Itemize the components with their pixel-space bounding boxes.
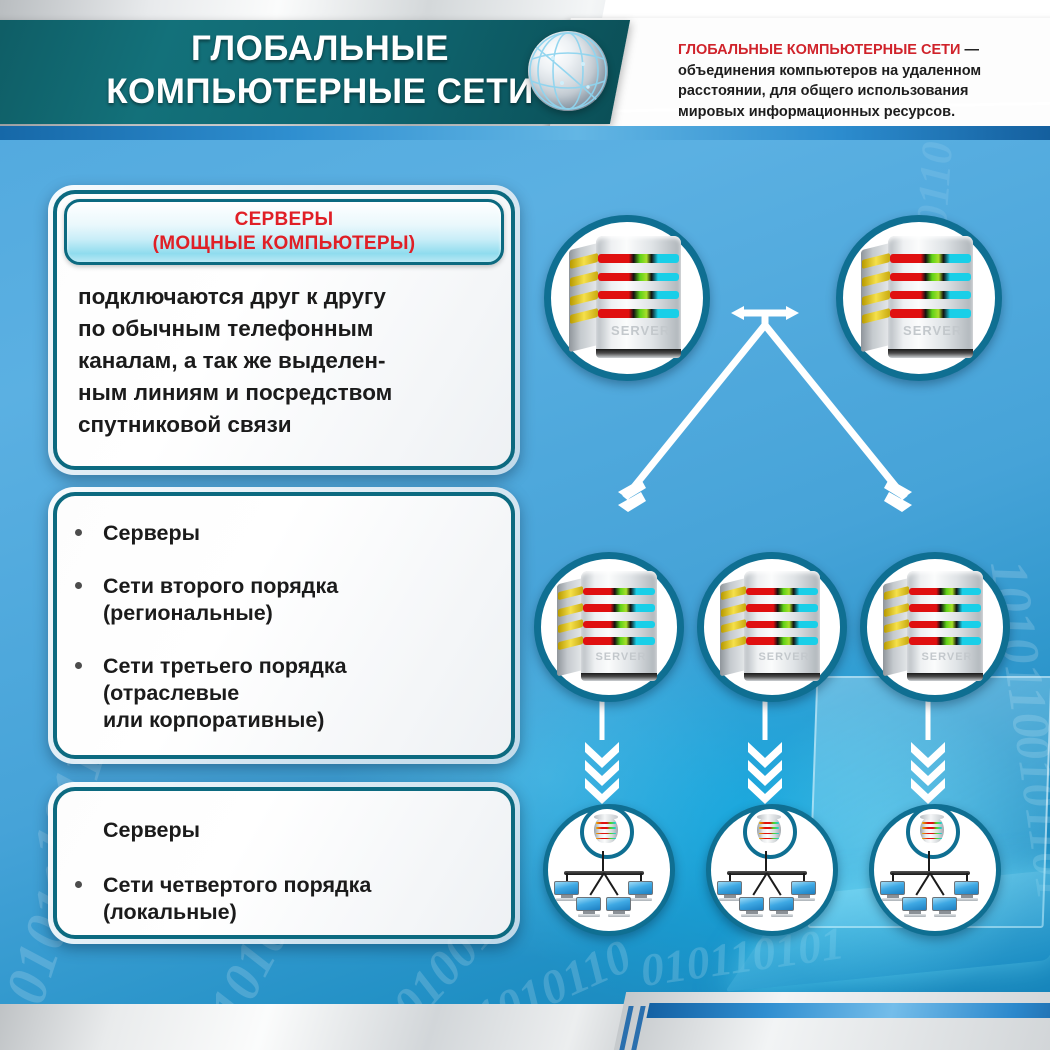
pc-screen — [739, 897, 764, 911]
server-label: SERVER — [591, 651, 651, 663]
bullet-icon — [75, 662, 82, 669]
pc-base — [556, 898, 578, 901]
lan-trunk-link — [602, 851, 604, 873]
pc-base — [904, 914, 926, 917]
server-drive-bay — [598, 291, 679, 300]
header-blue-bar — [0, 126, 1050, 140]
server-drive-bay — [598, 273, 679, 282]
bullet-icon — [75, 529, 82, 536]
server-icon: SERVER — [569, 236, 681, 358]
server-drive-bay — [909, 637, 981, 645]
panel-local-networks: Серверы Сети четвертого порядка (локальн… — [48, 782, 520, 944]
server-base — [888, 349, 973, 358]
pc-base — [719, 898, 741, 901]
server-drive-bay — [890, 291, 971, 300]
server-base — [907, 673, 983, 681]
bullet-icon — [75, 582, 82, 589]
lan-trunk-link — [928, 851, 930, 873]
list-item: Сети третьего порядка (отраслевые или ко… — [57, 653, 511, 734]
list-item-line: (локальные) — [103, 899, 511, 926]
hub-cyl-body — [594, 817, 618, 844]
footer-left-plate — [0, 1004, 675, 1050]
lan-node-tier3[interactable] — [706, 804, 838, 936]
pc-screen — [954, 881, 979, 895]
footer-blue-bar — [646, 1003, 1050, 1018]
server-node-tier2[interactable]: SERVER — [860, 552, 1010, 702]
panel-network-tiers-inner: Серверы Сети второго порядка (региональн… — [53, 492, 515, 759]
panel-servers-body-line: подключаются друг к другу — [78, 281, 500, 313]
server-drive-bay — [598, 254, 679, 263]
pc-screen — [554, 881, 579, 895]
lan-node-tier3[interactable] — [543, 804, 675, 936]
pc-base — [882, 898, 904, 901]
lan-drop-link — [603, 872, 619, 895]
pc-base — [630, 898, 652, 901]
lan-hub-server-icon — [906, 805, 960, 859]
list-item: Серверы — [57, 817, 511, 844]
client-pc — [932, 897, 957, 918]
pc-screen — [791, 881, 816, 895]
lan-drop-link — [766, 872, 782, 895]
pc-base — [956, 898, 978, 901]
lan-trunk-link — [765, 851, 767, 873]
server-drive-bay — [746, 588, 818, 596]
server-label: SERVER — [754, 651, 814, 663]
list-item: Сети четвертого порядка (локальные) — [57, 872, 511, 926]
server-drive-bay — [746, 604, 818, 612]
panel-servers-inner: СЕРВЕРЫ (МОЩНЫЕ КОМПЬЮТЕРЫ) подключаются… — [53, 190, 515, 470]
client-pc — [791, 881, 816, 902]
panel-servers-body-line: по обычным телефонным — [78, 313, 500, 345]
lan-node-tier3[interactable] — [869, 804, 1001, 936]
hub-cyl-bar — [759, 827, 779, 829]
panel-servers-title-line2: (МОЩНЫЕ КОМПЬЮТЕРЫ) — [153, 232, 416, 256]
server-node-tier2[interactable]: SERVER — [534, 552, 684, 702]
header-description-keyword: ГЛОБАЛЬНЫЕ КОМПЬЮТЕРНЫЕ СЕТИ — [678, 42, 960, 58]
pc-screen — [606, 897, 631, 911]
pc-base — [934, 914, 956, 917]
hub-cyl-top — [594, 814, 618, 820]
server-drive-bay — [909, 588, 981, 596]
client-pc — [954, 881, 979, 902]
lan-topology — [874, 809, 986, 921]
server-drive-bay — [890, 309, 971, 318]
lan-hub-server-icon — [743, 805, 797, 859]
hub-cyl-body — [757, 817, 781, 844]
hub-cyl-bar — [922, 827, 942, 829]
page-title-line1: ГЛОБАЛЬНЫЕ — [95, 27, 545, 70]
pc-base — [741, 914, 763, 917]
server-drive-bay — [598, 309, 679, 318]
server-icon: SERVER — [557, 571, 657, 681]
page-title-line2: КОМПЬЮТЕРНЫЕ СЕТИ — [95, 70, 545, 113]
globe-icon — [528, 31, 608, 111]
pc-screen — [880, 881, 905, 895]
server-node-tier1[interactable]: SERVER — [544, 215, 710, 381]
lan-drop-link — [589, 872, 605, 895]
server-icon: SERVER — [883, 571, 983, 681]
server-drive-bay — [909, 604, 981, 612]
hub-cyl-bar — [922, 822, 942, 824]
pc-screen — [628, 881, 653, 895]
header-description: ГЛОБАЛЬНЫЕ КОМПЬЮТЕРНЫЕ СЕТИ — объединен… — [678, 40, 1030, 122]
page-title: ГЛОБАЛЬНЫЕ КОМПЬЮТЕРНЫЕ СЕТИ — [95, 27, 545, 113]
server-drive-bay — [909, 621, 981, 629]
server-icon: SERVER — [720, 571, 820, 681]
header-description-dash: — — [960, 42, 979, 58]
list-item-line: Серверы — [103, 520, 511, 547]
footer — [0, 992, 1050, 1050]
hub-cyl-bar — [596, 827, 616, 829]
server-drive-bay — [746, 621, 818, 629]
list-item-line: (региональные) — [103, 600, 511, 627]
server-drive-bay — [890, 273, 971, 282]
bullet-icon — [75, 881, 82, 888]
lan-drop-link — [915, 872, 931, 895]
list-item-line: Сети второго порядка — [103, 573, 511, 600]
list-item-line: (отраслевые — [103, 680, 511, 707]
server-node-tier2[interactable]: SERVER — [697, 552, 847, 702]
client-pc — [628, 881, 653, 902]
panel-servers-body-line: спутниковой связи — [78, 409, 500, 441]
hub-cyl-bar — [759, 822, 779, 824]
pc-screen — [576, 897, 601, 911]
network-tier-list: Серверы Сети второго порядка (региональн… — [57, 520, 511, 734]
server-drive-bay — [583, 637, 655, 645]
hub-cylinder — [757, 814, 781, 846]
server-drive-bay — [583, 588, 655, 596]
panel-servers-body-line: ным линиям и посредством — [78, 377, 500, 409]
hub-cyl-body — [920, 817, 944, 844]
footer-right-plate — [614, 992, 1050, 1050]
client-pc — [902, 897, 927, 918]
server-drive-bay — [583, 604, 655, 612]
pc-base — [608, 914, 630, 917]
hub-cylinder — [920, 814, 944, 846]
client-pc — [606, 897, 631, 918]
lan-topology — [711, 809, 823, 921]
local-network-list: Серверы Сети четвертого порядка (локальн… — [57, 817, 511, 926]
header-description-body: объединения компьютеров на удаленном рас… — [678, 63, 981, 120]
panel-servers: СЕРВЕРЫ (МОЩНЫЕ КОМПЬЮТЕРЫ) подключаются… — [48, 185, 520, 475]
pc-screen — [717, 881, 742, 895]
server-icon: SERVER — [861, 236, 973, 358]
lan-hub-server-icon — [580, 805, 634, 859]
server-base — [744, 673, 820, 681]
server-drive-bay — [746, 637, 818, 645]
panel-servers-title-line1: СЕРВЕРЫ — [153, 208, 416, 232]
list-item-line: Сети третьего порядка — [103, 653, 511, 680]
list-item-line: или корпоративные) — [103, 707, 511, 734]
server-node-tier1[interactable]: SERVER — [836, 215, 1002, 381]
panel-servers-body-line: каналам, а так же выделен- — [78, 345, 500, 377]
client-pc — [769, 897, 794, 918]
hub-cyl-top — [920, 814, 944, 820]
panel-servers-titlebox: СЕРВЕРЫ (МОЩНЫЕ КОМПЬЮТЕРЫ) — [64, 199, 504, 265]
client-pc — [576, 897, 601, 918]
pc-base — [771, 914, 793, 917]
panel-servers-title: СЕРВЕРЫ (МОЩНЫЕ КОМПЬЮТЕРЫ) — [153, 208, 416, 256]
hub-cylinder — [594, 814, 618, 846]
server-base — [581, 673, 657, 681]
list-item: Сети второго порядка (региональные) — [57, 573, 511, 627]
panel-local-networks-inner: Серверы Сети четвертого порядка (локальн… — [53, 787, 515, 939]
server-drive-bay — [583, 621, 655, 629]
hub-cyl-top — [757, 814, 781, 820]
pc-screen — [769, 897, 794, 911]
server-label: SERVER — [899, 323, 966, 338]
hub-cyl-bar — [596, 822, 616, 824]
client-pc — [739, 897, 764, 918]
lan-drop-link — [929, 872, 945, 895]
header: ГЛОБАЛЬНЫЕ КОМПЬЮТЕРНЫЕ СЕТИ — [0, 0, 1050, 140]
lan-topology — [548, 809, 660, 921]
panel-servers-body: подключаются друг к другу по обычным тел… — [78, 281, 500, 441]
pc-screen — [902, 897, 927, 911]
list-item-line: Сети четвертого порядка — [103, 872, 511, 899]
panel-network-tiers: Серверы Сети второго порядка (региональн… — [48, 487, 520, 764]
list-item: Серверы — [57, 520, 511, 547]
server-label: SERVER — [917, 651, 977, 663]
pc-screen — [932, 897, 957, 911]
server-drive-bay — [890, 254, 971, 263]
pc-base — [793, 898, 815, 901]
server-label: SERVER — [607, 323, 674, 338]
poster-root: 101101 01011 0110101 101101001 1010110 0… — [0, 0, 1050, 1050]
list-item-line: Серверы — [103, 817, 511, 844]
server-base — [596, 349, 681, 358]
lan-drop-link — [752, 872, 768, 895]
pc-base — [578, 914, 600, 917]
